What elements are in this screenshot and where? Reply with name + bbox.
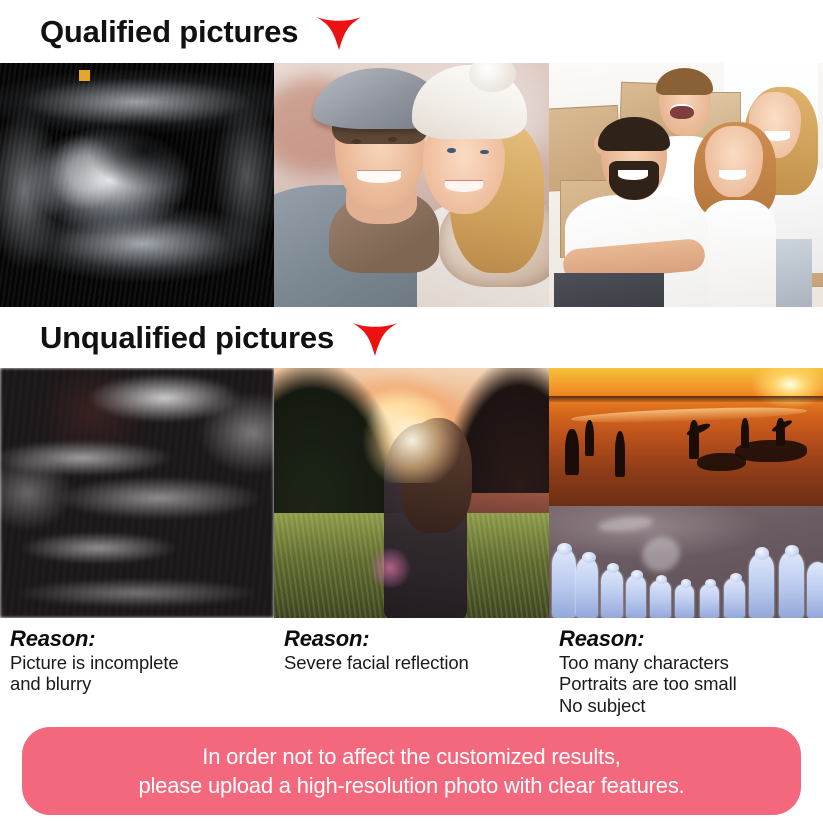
mother-body — [700, 200, 777, 307]
father-beard — [609, 161, 658, 200]
person-silhouette — [615, 431, 625, 476]
beach-silhouettes-image — [549, 368, 823, 506]
family-portrait-image — [549, 63, 823, 307]
crowd-person-head — [631, 570, 643, 580]
crowd-person-head — [607, 563, 620, 573]
woman-eye-left — [447, 148, 455, 153]
man-eye-left — [352, 139, 361, 144]
qualified-heading-text: Qualified pictures — [40, 16, 298, 47]
qualified-heading-row: Qualified pictures — [0, 0, 823, 63]
ultrasound-marker-icon — [79, 70, 90, 81]
sun-glare — [357, 398, 467, 483]
person-silhouette — [741, 418, 749, 448]
photo-couple-winter-portrait[interactable] — [274, 63, 549, 307]
arrow-down-red-icon — [316, 13, 362, 51]
lens-flare — [368, 548, 412, 588]
footer-wrapper: In order not to affect the customized re… — [0, 721, 823, 815]
couple-portrait-image — [274, 63, 549, 307]
crowd-person — [576, 557, 598, 618]
ultrasound-blurry-image — [0, 368, 274, 618]
crowd-person-head — [705, 579, 716, 587]
unqualified-heading-row: Unqualified pictures — [0, 307, 823, 368]
arrow-down-red-icon — [352, 319, 398, 357]
unqualified-photo-row — [0, 368, 823, 618]
backlit-girl-image — [274, 368, 549, 618]
crowd-person-head — [730, 573, 742, 582]
crowd-person — [552, 548, 577, 618]
crowd-person-head — [681, 579, 692, 587]
reason-column-1: Reason: Picture is incomplete and blurry — [0, 627, 274, 721]
woman-eye-right — [480, 150, 488, 155]
boy-hair — [656, 68, 714, 95]
crowd-person — [779, 551, 804, 619]
image-guidelines-page: Qualified pictures — [0, 0, 823, 823]
crowd-person — [601, 569, 623, 619]
father-smile — [618, 170, 648, 180]
photo-fetal-ultrasound-clear[interactable] — [0, 63, 274, 307]
reason-column-3: Reason: Too many characters Portraits ar… — [549, 627, 823, 721]
reason-label: Reason: — [10, 627, 274, 652]
crowd-person — [749, 553, 774, 618]
crowd-person — [675, 584, 694, 618]
crowd-person — [626, 575, 647, 618]
person-silhouette — [585, 420, 594, 456]
reason-text: Severe facial reflection — [284, 652, 549, 674]
photo-stack-beach-and-crowd[interactable] — [549, 368, 823, 618]
crowd-person-head — [755, 547, 770, 559]
crowd-person — [807, 562, 823, 618]
photo-family-moving-boxes[interactable] — [549, 63, 823, 307]
reason-label: Reason: — [559, 627, 823, 652]
reason-text: Too many characters Portraits are too sm… — [559, 652, 823, 717]
upload-notice-line-1: In order not to affect the customized re… — [202, 742, 620, 771]
beach-rock — [697, 453, 746, 471]
reasons-row: Reason: Picture is incomplete and blurry… — [0, 618, 823, 721]
photo-fetal-ultrasound-blurry[interactable] — [0, 368, 274, 618]
father-jeans — [554, 273, 664, 307]
mother-head — [705, 126, 763, 197]
reason-label: Reason: — [284, 627, 549, 652]
man-smile — [357, 170, 401, 182]
horizon-line — [549, 396, 823, 403]
person-silhouette — [565, 429, 579, 476]
crowd-group-image — [549, 506, 823, 619]
upload-notice-line-2: please upload a high-resolution photo wi… — [138, 771, 684, 800]
qualified-photo-row — [0, 63, 823, 307]
crowd-person — [650, 580, 671, 618]
boy-open-mouth — [670, 104, 695, 119]
ultrasound-clear-image — [0, 63, 274, 307]
crowd-person-head — [582, 552, 596, 563]
unqualified-heading-text: Unqualified pictures — [40, 322, 334, 353]
reason-column-2: Reason: Severe facial reflection — [274, 627, 549, 721]
crowd-person — [700, 584, 719, 618]
upload-notice-banner: In order not to affect the customized re… — [22, 727, 801, 815]
reason-text: Picture is incomplete and blurry — [10, 652, 274, 696]
crowd-person — [724, 578, 745, 619]
photo-backlit-girl-sunset[interactable] — [274, 368, 549, 618]
surf-line — [571, 405, 807, 426]
